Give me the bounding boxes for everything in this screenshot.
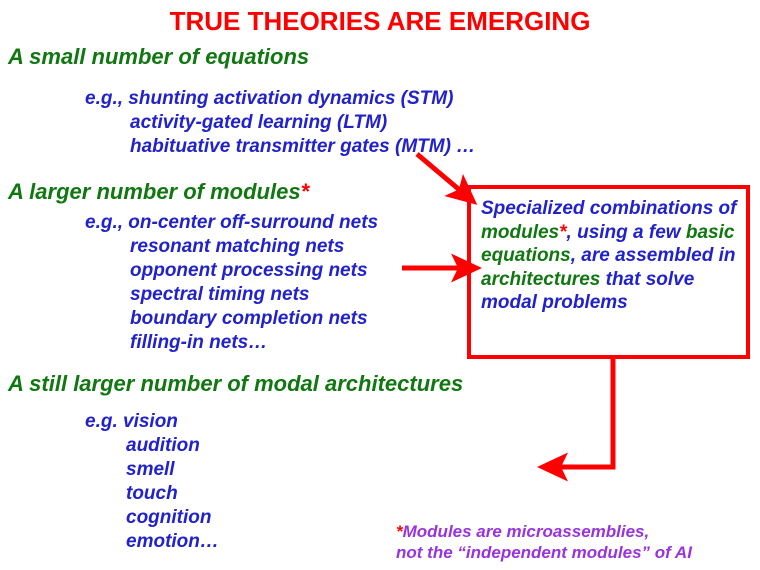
callout-run-6: architectures	[481, 269, 600, 290]
list-item: emotion…	[126, 531, 219, 553]
list-item: habituative transmitter gates (MTM) …	[130, 136, 475, 158]
callout-run-5: , are assembled in	[571, 245, 736, 266]
list-item: e.g., shunting activation dynamics (STM)	[85, 88, 453, 110]
list-item: e.g., on-center off-surround nets	[85, 212, 378, 234]
footnote-line-2: not the “independent modules” of AI	[396, 543, 692, 562]
slide-canvas: TRUE THEORIES ARE EMERGING A small numbe…	[0, 0, 760, 570]
callout-run-1: modules	[481, 222, 559, 243]
callout-run-2: *	[559, 222, 566, 243]
footnote: *Modules are microassemblies, not the “i…	[396, 521, 692, 563]
list-item: e.g. vision	[85, 411, 178, 433]
list-item: spectral timing nets	[130, 284, 310, 306]
list-item: touch	[126, 483, 178, 505]
list-item: opponent processing nets	[130, 260, 368, 282]
callout-run-3: , using a few	[567, 222, 686, 243]
list-item: resonant matching nets	[130, 236, 344, 258]
list-item: cognition	[126, 507, 211, 529]
list-item: smell	[126, 459, 175, 481]
list-item: activity-gated learning (LTM)	[130, 112, 387, 134]
elbow-arrow-to-architectures	[557, 359, 613, 467]
callout-text: Specialized combinations of modules*, us…	[481, 197, 743, 315]
callout-box: Specialized combinations of modules*, us…	[467, 185, 750, 359]
footnote-asterisk: *	[396, 522, 403, 541]
section-heading-modules: A larger number of modules*	[8, 179, 309, 205]
section-heading-text: A small number of equations	[8, 44, 309, 69]
page-title: TRUE THEORIES ARE EMERGING	[0, 6, 760, 37]
section-heading-text: A larger number of modules	[8, 179, 301, 204]
section-heading-star: *	[301, 179, 310, 204]
list-item: boundary completion nets	[130, 308, 368, 330]
footnote-line-1: Modules are microassemblies,	[403, 522, 650, 541]
list-item: filling-in nets…	[130, 332, 267, 354]
section-heading-text: A still larger number of modal architect…	[8, 371, 463, 396]
section-heading-equations: A small number of equations	[8, 44, 309, 70]
diagonal-arrow-to-box	[417, 154, 462, 192]
callout-run-0: Specialized combinations of	[481, 198, 737, 219]
list-item: audition	[126, 435, 200, 457]
section-heading-architectures: A still larger number of modal architect…	[8, 371, 463, 397]
